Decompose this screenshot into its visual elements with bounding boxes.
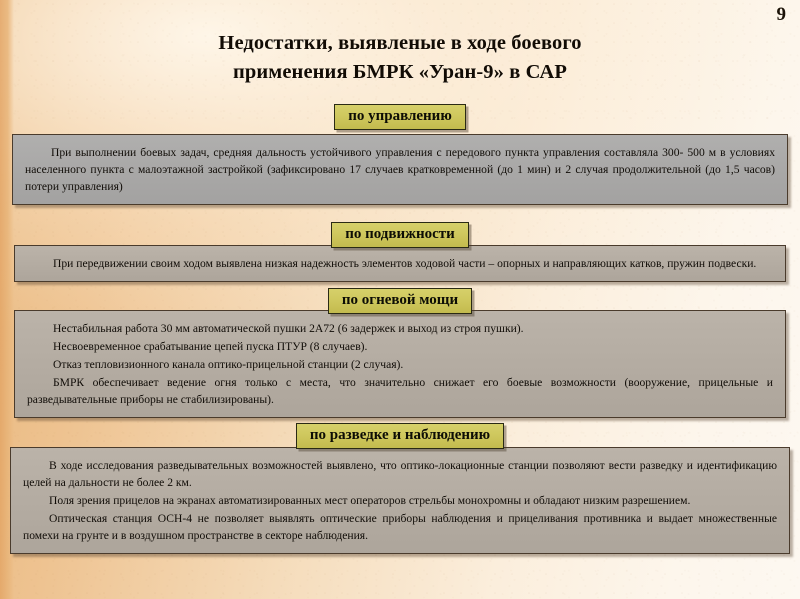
section-body-mobility: При передвижении своим ходом выявлена ни…	[14, 245, 786, 282]
section-body-firepower: Нестабильная работа 30 мм автоматической…	[14, 310, 786, 418]
section-header-mobility: по подвижности	[0, 222, 800, 248]
section-label-control: по управлению	[334, 104, 466, 130]
section-header-control: по управлению	[0, 104, 800, 130]
section-label-recon: по разведке и наблюдению	[296, 423, 504, 449]
slide: 9 Недостатки, выявленые в ходе боевого п…	[0, 0, 800, 599]
section-label-mobility: по подвижности	[331, 222, 469, 248]
paragraph: Оптическая станция ОСН-4 не позволяет вы…	[23, 510, 777, 544]
paragraph: В ходе исследования разведывательных воз…	[23, 457, 777, 491]
page-title-line-2: применения БМРК «Уран-9» в САР	[0, 58, 800, 87]
paragraph: При выполнении боевых задач, средняя дал…	[25, 144, 775, 195]
section-header-firepower: по огневой мощи	[0, 288, 800, 314]
section-label-firepower: по огневой мощи	[328, 288, 472, 314]
paragraph: БМРК обеспечивает ведение огня только с …	[27, 374, 773, 408]
paragraph: Нестабильная работа 30 мм автоматической…	[27, 320, 773, 337]
page-title: Недостатки, выявленые в ходе боевого при…	[0, 29, 800, 87]
page-title-line-1: Недостатки, выявленые в ходе боевого	[0, 29, 800, 58]
paragraph: Несвоевременное срабатывание цепей пуска…	[27, 338, 773, 355]
section-body-recon: В ходе исследования разведывательных воз…	[10, 447, 790, 554]
paragraph: Поля зрения прицелов на экранах автомати…	[23, 492, 777, 509]
page-number: 9	[777, 4, 787, 26]
section-header-recon: по разведке и наблюдению	[0, 423, 800, 449]
paragraph: При передвижении своим ходом выявлена ни…	[27, 255, 773, 272]
section-body-control: При выполнении боевых задач, средняя дал…	[12, 134, 788, 205]
paragraph: Отказ тепловизионного канала оптико-приц…	[27, 356, 773, 373]
